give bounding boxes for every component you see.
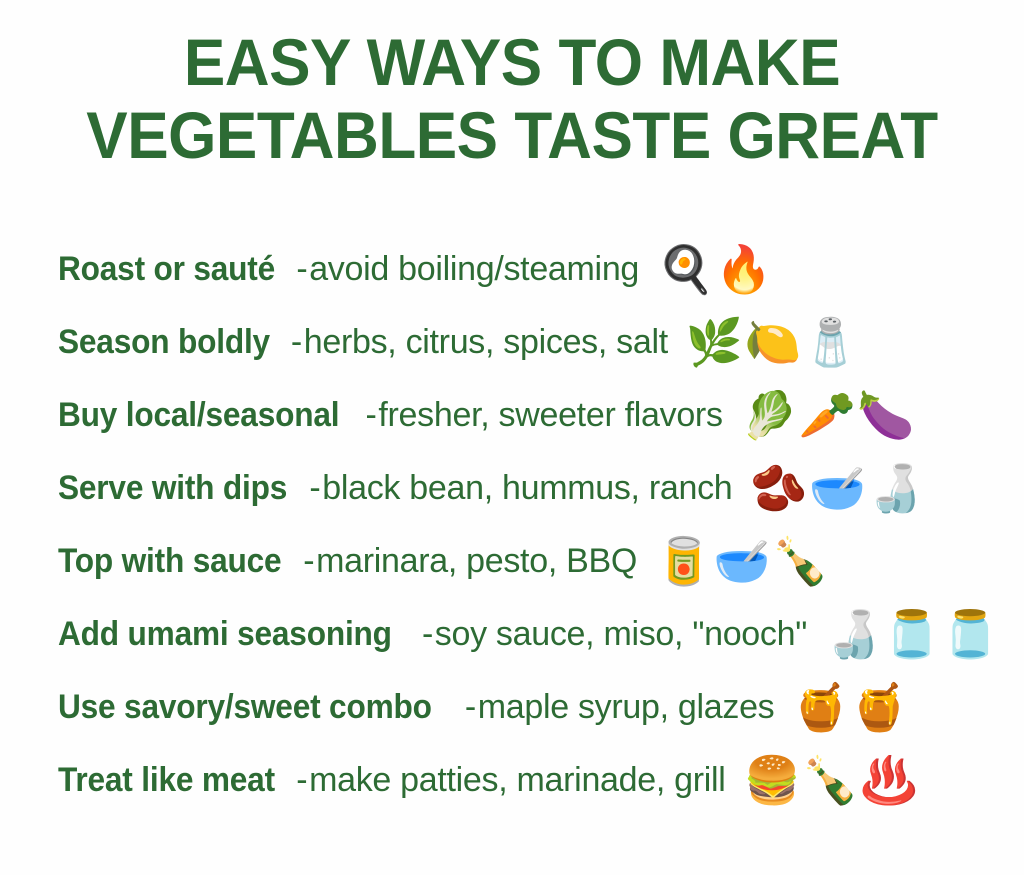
title-line-2: VEGETABLES TASTE GREAT <box>31 99 994 172</box>
tip-emoji-cluster: 🥬🥕🍆 <box>741 392 916 438</box>
tip-separator: - <box>291 249 309 289</box>
list-item: Buy local/seasonal - fresher, sweeter fl… <box>0 378 1024 451</box>
tip-description: maple syrup, glazes <box>478 687 775 727</box>
list-item: Add umami seasoning - soy sauce, miso, "… <box>0 597 1024 670</box>
tip-emoji-cluster: 🍶🫙🫙 <box>825 611 1000 657</box>
tip-description: marinara, pesto, BBQ <box>316 541 637 581</box>
tip-lead: Treat like meat <box>58 760 275 800</box>
page-title: EASY WAYS TO MAKE VEGETABLES TASTE GREAT <box>0 0 1024 172</box>
list-item: Treat like meat - make patties, marinade… <box>0 743 1024 816</box>
list-item: Roast or sauté - avoid boiling/steaming … <box>0 232 1024 305</box>
tip-text: Top with sauce - marinara, pesto, BBQ <box>58 541 637 581</box>
list-item: Use savory/sweet combo - maple syrup, gl… <box>0 670 1024 743</box>
tip-lead: Add umami seasoning <box>58 614 392 654</box>
tip-separator: - <box>286 322 304 362</box>
tip-lead: Use savory/sweet combo <box>58 687 432 727</box>
tip-description: herbs, citrus, spices, salt <box>304 322 668 362</box>
tip-text: Use savory/sweet combo - maple syrup, gl… <box>58 687 774 727</box>
tip-emoji-cluster: 🍔🍾♨️ <box>744 757 919 803</box>
tip-description: soy sauce, miso, "nooch" <box>435 614 807 654</box>
infographic-poster: EASY WAYS TO MAKE VEGETABLES TASTE GREAT… <box>0 0 1024 875</box>
tip-separator: - <box>361 395 379 435</box>
list-item: Serve with dips - black bean, hummus, ra… <box>0 451 1024 524</box>
tip-emoji-cluster: 🍯🍯 <box>792 684 909 730</box>
tip-emoji-cluster: 🫘🥣🍶 <box>750 465 925 511</box>
tip-lead: Buy local/seasonal <box>58 395 339 435</box>
tip-separator: - <box>291 760 309 800</box>
tip-description: avoid boiling/steaming <box>309 249 639 289</box>
list-item: Season boldly - herbs, citrus, spices, s… <box>0 305 1024 378</box>
tip-separator: - <box>417 614 435 654</box>
tip-emoji-cluster: 🥫🥣🍾 <box>655 538 830 584</box>
tip-text: Serve with dips - black bean, hummus, ra… <box>58 468 732 508</box>
tip-lead: Top with sauce <box>58 541 281 581</box>
tip-emoji-cluster: 🍳🔥 <box>657 246 774 292</box>
tip-description: make patties, marinade, grill <box>309 760 725 800</box>
tip-text: Treat like meat - make patties, marinade… <box>58 760 726 800</box>
list-item: Top with sauce - marinara, pesto, BBQ 🥫🥣… <box>0 524 1024 597</box>
tip-separator: - <box>298 541 316 581</box>
tip-lead: Season boldly <box>58 322 270 362</box>
tip-description: fresher, sweeter flavors <box>378 395 722 435</box>
title-line-1: EASY WAYS TO MAKE <box>31 26 994 99</box>
tip-text: Add umami seasoning - soy sauce, miso, "… <box>58 614 807 654</box>
tip-separator: - <box>304 468 322 508</box>
tip-emoji-cluster: 🌿🍋🧂 <box>686 319 861 365</box>
tips-list: Roast or sauté - avoid boiling/steaming … <box>0 232 1024 816</box>
tip-lead: Serve with dips <box>58 468 287 508</box>
tip-lead: Roast or sauté <box>58 249 275 289</box>
tip-description: black bean, hummus, ranch <box>322 468 732 508</box>
tip-text: Season boldly - herbs, citrus, spices, s… <box>58 322 668 362</box>
tip-text: Roast or sauté - avoid boiling/steaming <box>58 249 639 289</box>
tip-separator: - <box>460 687 478 727</box>
tip-text: Buy local/seasonal - fresher, sweeter fl… <box>58 395 723 435</box>
